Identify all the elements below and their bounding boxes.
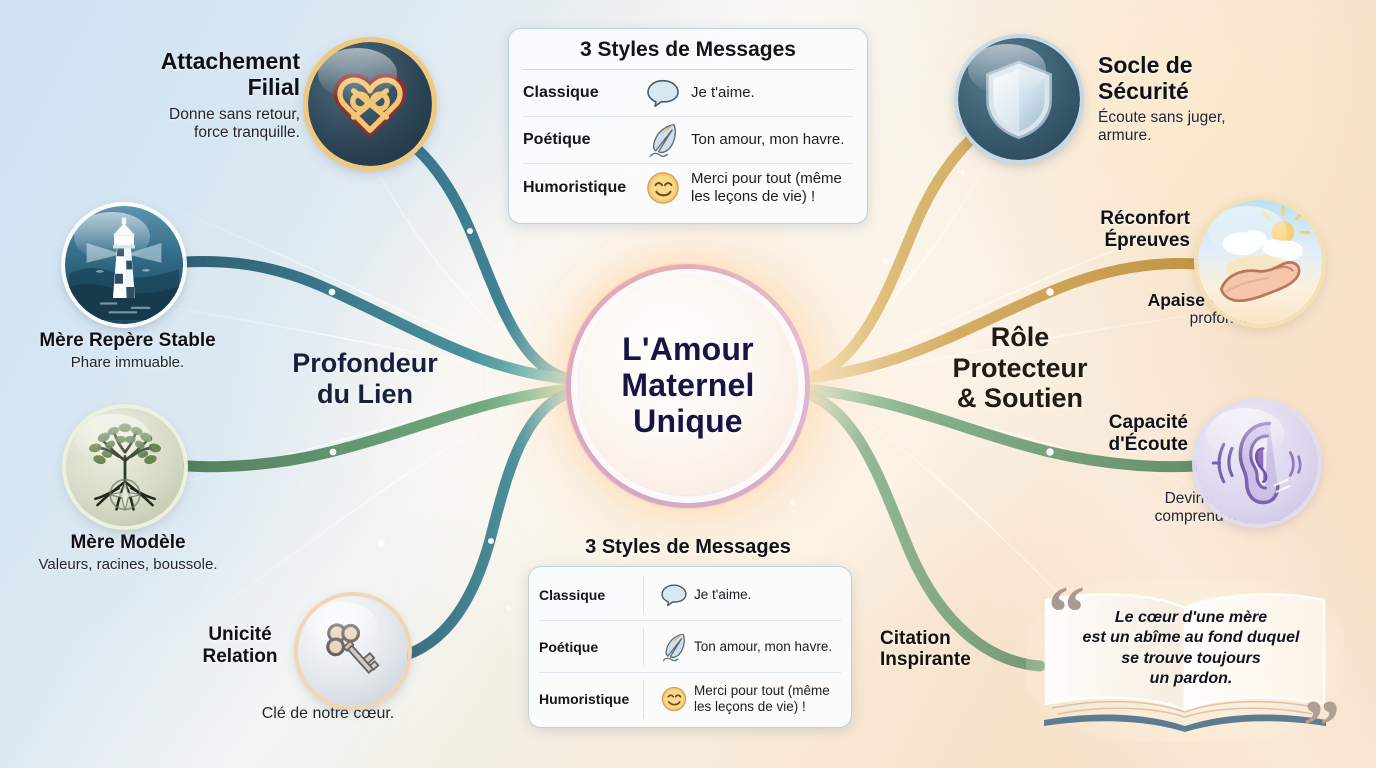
node-socle-de-securite[interactable]: Socle de Sécurité Écoute sans juger, arm… (958, 38, 1288, 146)
message-text-line-1: Ton amour, mon havre. (691, 131, 844, 149)
speech-bubble-icon (635, 78, 691, 108)
column-divider (643, 628, 644, 665)
node-reconfort-title-line-2: Épreuves (1072, 230, 1190, 252)
message-text-line-1: Ton amour, mon havre. (694, 639, 832, 655)
message-style-label: Humoristique (539, 691, 643, 707)
column-divider (643, 680, 644, 718)
node-attachement-sub-line-2: force tranquille. (110, 124, 300, 143)
message-text: Je t'aime. (691, 84, 755, 102)
node-mere-modele[interactable]: Mère Modèle Valeurs, racines, boussole. (18, 408, 238, 574)
message-style-label: Poétique (539, 639, 643, 655)
node-attachement-filial[interactable]: Attachement Filial Donne sans retour, fo… (110, 48, 440, 143)
message-text-line-2: les leçons de vie) ! (691, 188, 842, 206)
quote-close-mark: ” (1303, 690, 1340, 764)
node-capacite-ecoute[interactable]: Capacité d'Écoute (1072, 404, 1372, 527)
message-card-bottom-title: 3 Styles de Messages (508, 536, 868, 559)
table-row[interactable]: Poétique Ton amour, mon havre. (539, 621, 841, 673)
node-modele-sub-line-1: Valeurs, racines, boussole. (18, 556, 238, 574)
message-text-line-1: Je t'aime. (691, 84, 755, 102)
branch-right-line-2: Protecteur (925, 353, 1115, 384)
node-securite-sub-line-1: Écoute sans juger, (1098, 109, 1288, 128)
node-attachement-title-line-1: Attachement (110, 48, 300, 74)
node-phare-subtitle: Phare immuable. (20, 354, 235, 372)
branch-left-line-2: du Lien (270, 379, 460, 410)
center-title-line-2: Maternel (621, 368, 754, 404)
node-phare-title-line-1: Mère Repère Stable (20, 330, 235, 352)
feather-quill-icon (654, 632, 694, 662)
center-title-line-3: Unique (621, 404, 754, 440)
message-card-bottom-rows: Classique Je t'aime. Poétique (539, 569, 841, 725)
node-phare-sub-line-1: Phare immuable. (20, 354, 235, 372)
branch-left-line-1: Profondeur (270, 348, 460, 379)
node-attachement-subtitle: Donne sans retour, force tranquille. (110, 106, 300, 143)
message-style-label: Classique (523, 84, 635, 102)
node-phare-title: Mère Repère Stable (20, 330, 235, 352)
node-attachement-title: Attachement Filial (110, 48, 300, 101)
message-text: Merci pour tout (même les leçons de vie)… (691, 170, 842, 205)
quote-line-1: Le cœur d'une mère (1072, 608, 1310, 628)
node-unicite-sub-line-1: Clé de notre cœur. (202, 704, 454, 723)
node-unicite-title-line-1: Unicité (186, 624, 294, 646)
message-text-line-1: Merci pour tout (même (691, 170, 842, 188)
node-unicite-relation[interactable]: Unicité Relation (186, 606, 486, 723)
message-styles-card-top[interactable]: 3 Styles de Messages Classique Je t'aime… (508, 28, 868, 224)
table-row[interactable]: Humoristique Merci pour tout (même les l… (539, 673, 841, 725)
node-unicite-subtitle: Clé de notre cœur. (186, 704, 454, 723)
node-unicite-title-line-2: Relation (186, 646, 294, 668)
table-row[interactable]: Classique Je t'aime. (523, 70, 853, 117)
infographic-canvas: L'Amour Maternel Unique Profondeur du Li… (0, 0, 1376, 768)
message-text: Merci pour tout (même les leçons de vie)… (694, 683, 830, 715)
center-node[interactable]: L'Amour Maternel Unique (578, 276, 798, 496)
node-securite-title-line-2: Sécurité (1098, 78, 1288, 104)
key-icon (298, 596, 408, 706)
node-attachement-sub-line-1: Donne sans retour, (110, 106, 300, 125)
node-ecoute-title: Capacité d'Écoute (1072, 412, 1188, 456)
message-style-label: Humoristique (523, 179, 635, 197)
node-modele-subtitle: Valeurs, racines, boussole. (18, 556, 238, 574)
smiling-face-icon (635, 171, 691, 205)
table-row[interactable]: Classique Je t'aime. (539, 569, 841, 621)
node-reconfort-title: Réconfort Épreuves (1072, 208, 1190, 252)
node-ecoute-title-line-2: d'Écoute (1072, 434, 1188, 456)
citation-quote-book[interactable]: “ ” Le cœur d'une mère est un abîme au f… (1026, 578, 1344, 742)
node-unicite-title: Unicité Relation (186, 624, 294, 668)
message-style-label: Classique (539, 587, 643, 603)
column-divider (643, 576, 644, 613)
node-attachement-title-line-2: Filial (110, 74, 300, 100)
feather-quill-icon (635, 122, 691, 158)
message-text: Ton amour, mon havre. (691, 131, 844, 149)
quote-text: Le cœur d'une mère est un abîme au fond … (1072, 608, 1310, 690)
center-node-title: L'Amour Maternel Unique (621, 332, 754, 439)
message-card-top-rows: Classique Je t'aime. Poétique (523, 70, 853, 211)
table-row[interactable]: Poétique Ton amour, mon havre. (523, 117, 853, 164)
node-reconfort-title-line-1: Réconfort (1072, 208, 1190, 230)
node-modele-title: Mère Modèle (18, 532, 238, 554)
message-style-label: Poétique (523, 131, 635, 149)
shield-icon (958, 38, 1080, 160)
node-mere-repere-stable[interactable]: Mère Repère Stable Phare immuable. (20, 206, 235, 372)
message-text-line-1: Je t'aime. (694, 587, 751, 603)
lighthouse-icon (65, 206, 183, 324)
message-card-top-title: 3 Styles de Messages (523, 38, 853, 70)
open-hand-sun-icon (1198, 200, 1322, 324)
message-text-line-2: les leçons de vie) ! (694, 699, 830, 715)
node-securite-sub-line-2: armure. (1098, 127, 1288, 146)
node-ecoute-title-line-1: Capacité (1072, 412, 1188, 434)
quote-line-3: se trouve toujours (1072, 649, 1310, 669)
node-modele-title-line-1: Mère Modèle (18, 532, 238, 554)
ear-icon (1196, 402, 1318, 524)
node-securite-title: Socle de Sécurité (1098, 52, 1288, 105)
message-text-line-1: Merci pour tout (même (694, 683, 830, 699)
node-reconfort-epreuves[interactable]: Réconfort Épreuves (1072, 204, 1372, 328)
citation-label-line-2: Inspirante (880, 649, 1040, 670)
citation-label-line-1: Citation (880, 628, 1040, 649)
node-securite-title-line-1: Socle de (1098, 52, 1288, 78)
message-text: Je t'aime. (694, 587, 751, 603)
tree-of-life-icon (66, 408, 184, 526)
celtic-heart-knot-icon (308, 42, 432, 166)
speech-bubble-icon (654, 583, 694, 607)
branch-label-role-protecteur-soutien: Rôle Protecteur & Soutien (925, 322, 1115, 414)
quote-line-4: un pardon. (1072, 669, 1310, 689)
branch-label-citation-inspirante: Citation Inspirante (880, 628, 1040, 671)
quote-line-2: est un abîme au fond duquel (1072, 628, 1310, 648)
smiling-face-icon (654, 686, 694, 712)
branch-label-profondeur-du-lien: Profondeur du Lien (270, 348, 460, 409)
message-text: Ton amour, mon havre. (694, 639, 832, 655)
message-styles-card-bottom[interactable]: Classique Je t'aime. Poétique (528, 566, 852, 728)
center-title-line-1: L'Amour (621, 332, 754, 368)
table-row[interactable]: Humoristique Merci pour tout (même les l… (523, 164, 853, 211)
node-securite-subtitle: Écoute sans juger, armure. (1098, 109, 1288, 146)
